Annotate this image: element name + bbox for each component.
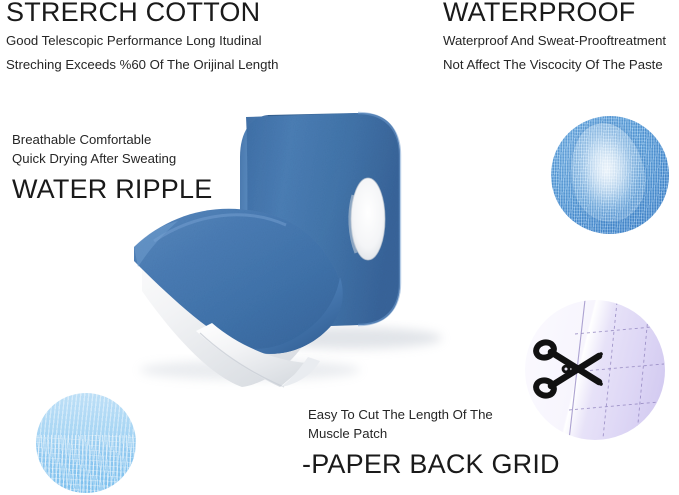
product-infographic: STRERCH COTTON Good Telescopic Performan…: [0, 0, 679, 495]
feature-waterproof-line1: Waterproof And Sweat-Prooftreatment: [443, 31, 666, 50]
feature-paper-back-grid: Easy To Cut The Length Of The Muscle Pat…: [308, 405, 560, 479]
feature-stretch-line2: Streching Exceeds %60 Of The Orijinal Le…: [6, 55, 278, 74]
water-foam-texture: [36, 435, 136, 493]
feature-ripple-line1: Breathable Comfortable: [12, 130, 212, 149]
feature-stretch-cotton: STRERCH COTTON Good Telescopic Performan…: [6, 0, 278, 75]
inset-fabric-texture-circle: [551, 116, 669, 234]
feature-waterproof-line2: Not Affect The Viscocity Of The Paste: [443, 55, 666, 74]
feature-water-ripple: Breathable Comfortable Quick Drying Afte…: [12, 130, 212, 204]
feature-grid-heading: -PAPER BACK GRID: [302, 450, 560, 478]
feature-waterproof: WATERPROOF Waterproof And Sweat-Prooftre…: [443, 0, 666, 75]
scissors-icon: [533, 338, 605, 400]
feature-ripple-heading: WATER RIPPLE: [12, 175, 212, 203]
feature-grid-line1: Easy To Cut The Length Of The: [308, 405, 560, 424]
feature-grid-line2: Muscle Patch: [308, 424, 560, 443]
feature-stretch-heading: STRERCH COTTON: [6, 0, 278, 26]
feature-waterproof-heading: WATERPROOF: [443, 0, 666, 26]
inset-scissors-grid-circle: [525, 300, 665, 440]
ripple-lens-highlight: [562, 117, 654, 229]
inset-water-ripple-circle: [36, 393, 136, 493]
feature-ripple-line2: Quick Drying After Sweating: [12, 149, 212, 168]
feature-stretch-line1: Good Telescopic Performance Long Itudina…: [6, 31, 278, 50]
